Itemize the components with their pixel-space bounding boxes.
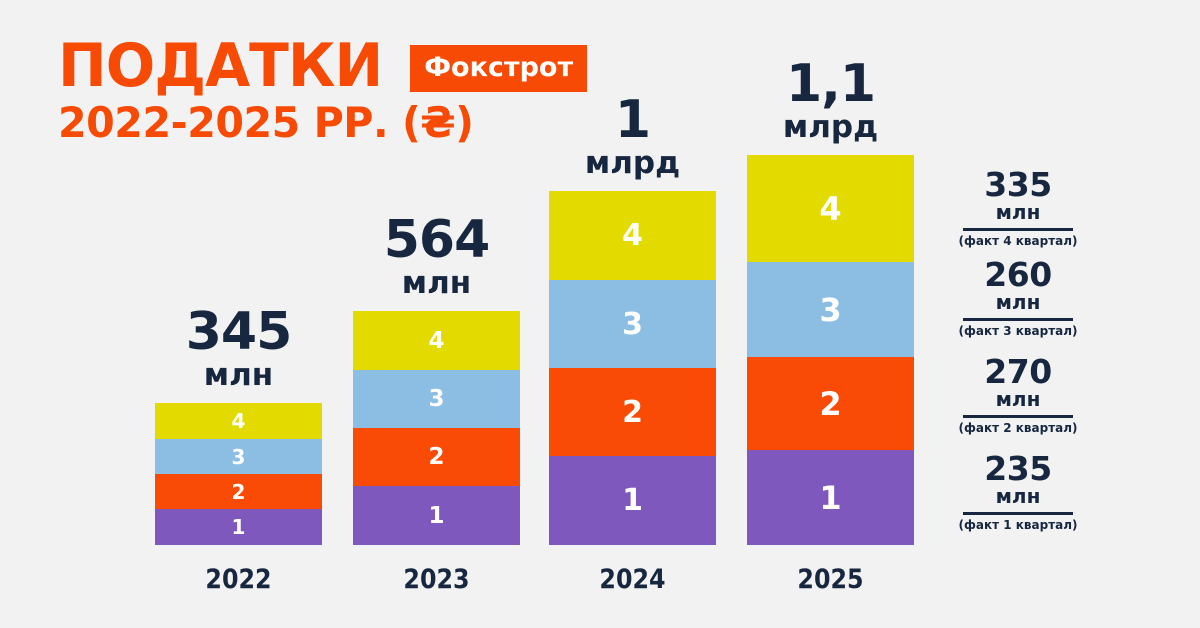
axis-label-2023: 2023 bbox=[363, 566, 510, 593]
bar-total-number: 345 bbox=[155, 307, 322, 357]
annotation-unit: млн bbox=[938, 388, 1098, 411]
bar-segment-q1-2023[interactable]: 1 bbox=[353, 486, 520, 545]
annotation-value: 260 bbox=[938, 258, 1098, 291]
annotation-value: 270 bbox=[938, 355, 1098, 388]
annotation-item-2: 270млн(факт 2 квартал) bbox=[938, 355, 1098, 435]
bar-group-2025[interactable]: 1,1млрд43212025 bbox=[747, 0, 914, 628]
bar-segment-q2-2025[interactable]: 2 bbox=[747, 357, 914, 450]
annotation-divider bbox=[963, 512, 1073, 515]
segment-label: 1 bbox=[232, 515, 246, 539]
bar-group-2022[interactable]: 345млн43212022 bbox=[155, 0, 322, 628]
segment-label: 1 bbox=[428, 503, 444, 529]
annotation-unit: млн bbox=[938, 201, 1098, 224]
annotation-unit: млн bbox=[938, 291, 1098, 314]
bar-segment-q1-2024[interactable]: 1 bbox=[549, 456, 716, 545]
bar-segment-q3-2024[interactable]: 3 bbox=[549, 280, 716, 368]
annotation-item-4: 335млн(факт 4 квартал) bbox=[938, 168, 1098, 248]
bar-segment-q1-2025[interactable]: 1 bbox=[747, 450, 914, 545]
bar-segment-q4-2024[interactable]: 4 bbox=[549, 191, 716, 280]
bar-total-label-2022: 345млн bbox=[155, 307, 322, 392]
bar-segment-q2-2024[interactable]: 2 bbox=[549, 368, 716, 456]
segment-label: 3 bbox=[819, 291, 841, 329]
annotation-divider bbox=[963, 318, 1073, 321]
infographic-canvas: ПОДАТКИ Фокстрот 2022-2025 РР. (₴) 345мл… bbox=[0, 0, 1200, 628]
axis-label-2024: 2024 bbox=[559, 566, 706, 593]
bar-segment-q3-2025[interactable]: 3 bbox=[747, 262, 914, 357]
segment-label: 2 bbox=[428, 444, 444, 470]
bar-segment-q1-2022[interactable]: 1 bbox=[155, 509, 322, 545]
segment-label: 3 bbox=[232, 445, 246, 469]
bar-total-number: 1 bbox=[549, 95, 716, 145]
bar-total-number: 1,1 bbox=[747, 59, 914, 109]
bar-stack-2022: 4321 bbox=[155, 403, 322, 545]
axis-label-2025: 2025 bbox=[757, 566, 904, 593]
annotation-unit: млн bbox=[938, 485, 1098, 508]
annotation-divider bbox=[963, 228, 1073, 231]
segment-label: 3 bbox=[622, 307, 643, 342]
quarter-annotations: 335млн(факт 4 квартал)260млн(факт 3 квар… bbox=[938, 0, 1098, 628]
segment-label: 4 bbox=[819, 190, 841, 228]
segment-label: 1 bbox=[622, 483, 643, 518]
bar-total-label-2025: 1,1млрд bbox=[747, 59, 914, 144]
bar-segment-q4-2023[interactable]: 4 bbox=[353, 311, 520, 370]
bar-segment-q3-2022[interactable]: 3 bbox=[155, 439, 322, 474]
bar-group-2023[interactable]: 564млн43212023 bbox=[353, 0, 520, 628]
bar-segment-q2-2023[interactable]: 2 bbox=[353, 428, 520, 486]
bar-total-unit: млн bbox=[155, 358, 322, 392]
segment-label: 2 bbox=[622, 395, 643, 430]
bar-segment-q3-2023[interactable]: 3 bbox=[353, 370, 520, 428]
segment-label: 1 bbox=[819, 479, 841, 517]
bar-stack-2025: 4321 bbox=[747, 155, 914, 545]
bar-total-number: 564 bbox=[353, 215, 520, 265]
annotation-note: (факт 1 квартал) bbox=[938, 518, 1098, 532]
annotation-item-3: 260млн(факт 3 квартал) bbox=[938, 258, 1098, 338]
bar-total-unit: млн bbox=[353, 266, 520, 300]
segment-label: 2 bbox=[819, 385, 841, 423]
segment-label: 4 bbox=[622, 218, 643, 253]
bar-segment-q4-2022[interactable]: 4 bbox=[155, 403, 322, 439]
bar-total-unit: млрд bbox=[549, 146, 716, 180]
bar-total-label-2023: 564млн bbox=[353, 215, 520, 300]
annotation-divider bbox=[963, 415, 1073, 418]
bar-total-unit: млрд bbox=[747, 110, 914, 144]
segment-label: 2 bbox=[232, 480, 246, 504]
annotation-note: (факт 4 квартал) bbox=[938, 234, 1098, 248]
bar-group-2024[interactable]: 1млрд43212024 bbox=[549, 0, 716, 628]
bar-segment-q4-2025[interactable]: 4 bbox=[747, 155, 914, 262]
annotation-note: (факт 3 квартал) bbox=[938, 324, 1098, 338]
segment-label: 4 bbox=[428, 328, 444, 354]
bar-stack-2024: 4321 bbox=[549, 191, 716, 545]
annotation-note: (факт 2 квартал) bbox=[938, 421, 1098, 435]
annotation-item-1: 235млн(факт 1 квартал) bbox=[938, 452, 1098, 532]
segment-label: 3 bbox=[428, 386, 444, 412]
segment-label: 4 bbox=[232, 409, 246, 433]
annotation-value: 335 bbox=[938, 168, 1098, 201]
bar-stack-2023: 4321 bbox=[353, 311, 520, 545]
annotation-value: 235 bbox=[938, 452, 1098, 485]
axis-label-2022: 2022 bbox=[165, 566, 312, 593]
bar-segment-q2-2022[interactable]: 2 bbox=[155, 474, 322, 509]
bar-total-label-2024: 1млрд bbox=[549, 95, 716, 180]
